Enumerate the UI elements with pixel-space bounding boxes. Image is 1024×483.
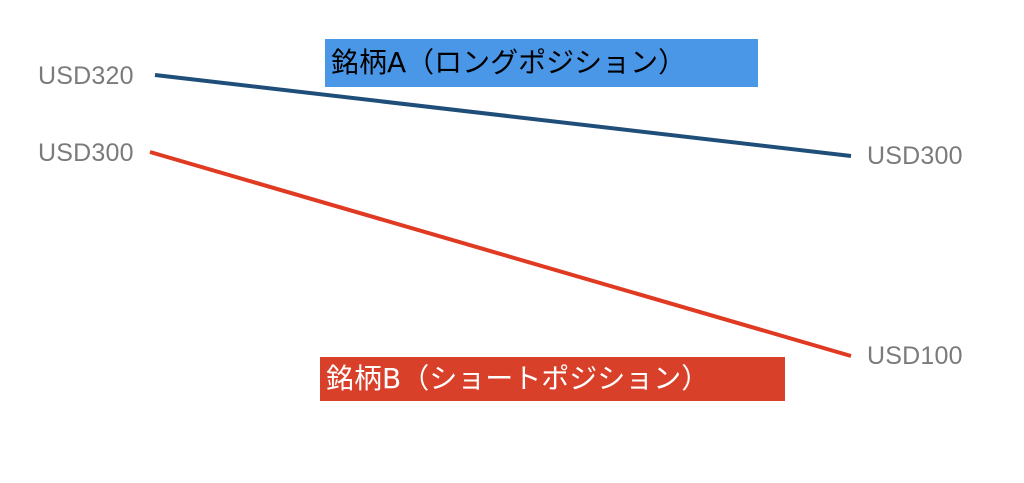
long-position-line [155, 75, 851, 156]
long-position-annotation: 銘柄A（ロングポジション） [325, 39, 758, 87]
short-end-value-label: USD100 [867, 344, 963, 369]
diagram-canvas: USD320 USD300 USD300 USD100 銘柄A（ロングポジション… [0, 0, 1024, 483]
short-start-value-label: USD300 [38, 141, 134, 166]
long-end-value-label: USD300 [867, 144, 963, 169]
long-start-value-label: USD320 [38, 64, 134, 89]
short-position-annotation: 銘柄B（ショートポジション） [320, 357, 785, 401]
short-position-line [150, 152, 851, 356]
